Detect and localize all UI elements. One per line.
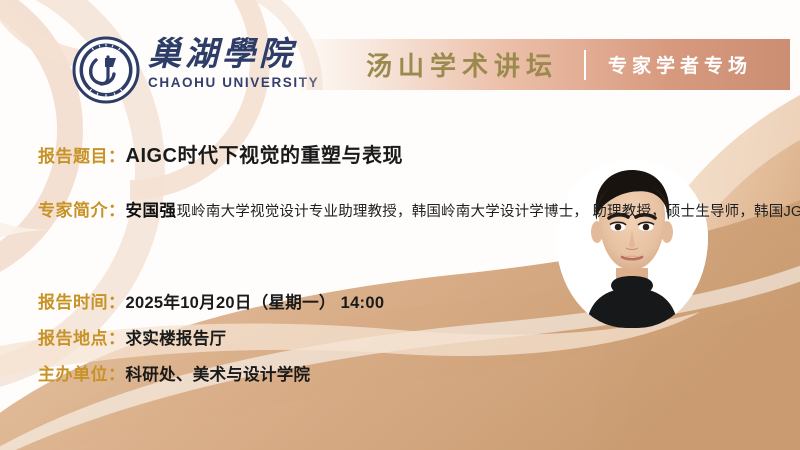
- time-value: 2025年10月20日（星期一） 14:00: [126, 289, 385, 313]
- organizer-value: 科研处、美术与设计学院: [126, 361, 311, 385]
- bio-body: 安国强现岭南大学视觉设计专业助理教授，韩国岭南大学设计学博士， 助理教授，硕士生…: [126, 199, 800, 225]
- field-time: 报告时间： 2025年10月20日（星期一） 14:00: [38, 288, 384, 313]
- bio-line-1: 安国强现岭南大学视觉设计专业助理教授，韩国岭南大学设计学博士，: [126, 204, 593, 220]
- bio-text-1: 现岭南大学视觉设计专业助理教授，韩国岭南大学设计学博士，: [177, 204, 589, 220]
- poster-canvas: 巢湖學院 CHAOHU UNIVERSITY 汤山学术讲坛 专家学者专场: [0, 0, 800, 450]
- poster-content: 报告题目： AIGC时代下视觉的重塑与表现 专家简介： 安国强现岭南大学视觉设计…: [0, 0, 800, 450]
- field-bio: 专家简介： 安国强现岭南大学视觉设计专业助理教授，韩国岭南大学设计学博士， 助理…: [38, 196, 800, 225]
- place-value: 求实楼报告厅: [126, 325, 227, 349]
- title-label: 报告题目：: [38, 142, 126, 167]
- field-place: 报告地点： 求实楼报告厅: [38, 324, 226, 349]
- field-organizer: 主办单位： 科研处、美术与设计学院: [38, 360, 310, 385]
- speaker-name: 安国强: [126, 202, 177, 220]
- place-label: 报告地点：: [38, 324, 126, 349]
- field-title: 报告题目： AIGC时代下视觉的重塑与表现: [38, 139, 403, 168]
- title-value: AIGC时代下视觉的重塑与表现: [126, 139, 404, 168]
- bio-line-2: 助理教授，硕士生导师，韩国JGAS学会审查委员，韩国交流学会会员。: [592, 204, 800, 220]
- organizer-label: 主办单位：: [38, 360, 126, 385]
- time-label: 报告时间：: [38, 288, 126, 313]
- bio-label: 专家简介：: [38, 196, 126, 221]
